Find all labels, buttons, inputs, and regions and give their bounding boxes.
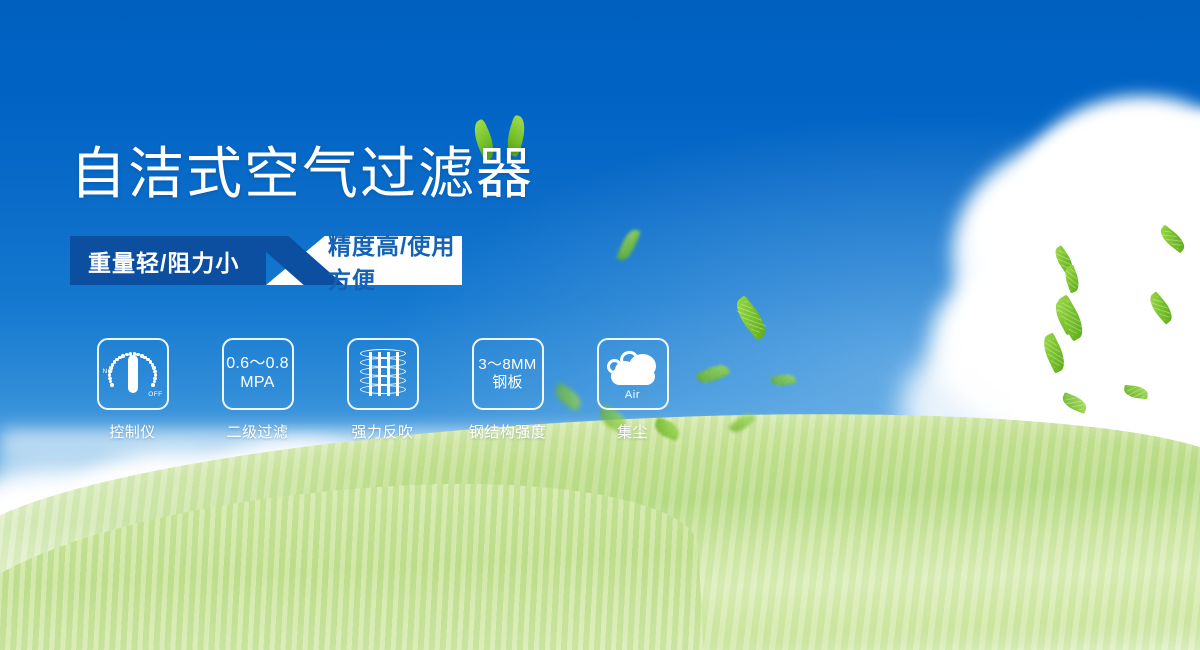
feature-label: 钢结构强度	[469, 421, 547, 442]
dial-tick-dot	[110, 383, 114, 387]
dial-tick-dot	[108, 377, 112, 381]
steel-thickness-text: 3～8MM	[478, 356, 536, 374]
feature-item-secondary-filter[interactable]: 0.6～0.8 MPA 二级过滤	[195, 338, 320, 442]
subtitle-dark-panel: 重量轻/阻力小	[70, 236, 266, 285]
feature-label: 集尘	[617, 421, 648, 442]
dial-gauge-icon: NO OFF	[104, 348, 162, 400]
pressure-unit-text: MPA	[240, 374, 274, 393]
dial-tick-dot	[108, 370, 112, 374]
cloud-air-icon	[607, 347, 659, 387]
dial-tick-dot	[151, 383, 155, 387]
feature-item-dust-collection[interactable]: Air 集尘	[570, 338, 695, 442]
feature-item-controller[interactable]: NO OFF 控制仪	[70, 338, 195, 442]
feature-list: NO OFF 控制仪 0.6～0.8 MPA 二级过滤	[70, 338, 695, 442]
dial-off-label: OFF	[148, 391, 162, 398]
feature-label: 控制仪	[109, 421, 156, 442]
feature-label: 强力反吹	[351, 421, 413, 442]
dial-tick-dot	[108, 373, 112, 377]
steel-plate-text: 钢板	[492, 374, 523, 392]
dial-tick-dot	[109, 366, 113, 370]
coil-bar	[369, 352, 372, 396]
dial-needle	[128, 355, 138, 393]
product-banner: 自洁式空气过滤器 重量轻/阻力小 精度高/使用方便 NO OFF 控制仪 0.6…	[0, 0, 1200, 650]
coil-bar	[396, 352, 399, 396]
feature-icon-box: NO OFF	[97, 338, 169, 410]
cloud-base	[611, 368, 655, 385]
coil-bar	[387, 352, 390, 396]
coil-bar	[378, 352, 381, 396]
feature-icon-box: Air	[597, 338, 669, 410]
feature-item-backblow[interactable]: 强力反吹	[320, 338, 445, 442]
subtitle-bar: 重量轻/阻力小 精度高/使用方便	[70, 236, 462, 285]
feature-icon-box: 0.6～0.8 MPA	[222, 338, 294, 410]
feature-icon-box	[347, 338, 419, 410]
subtitle-light-text: 精度高/使用方便	[328, 236, 462, 285]
pressure-value-text: 0.6～0.8	[226, 355, 289, 374]
feature-label: 二级过滤	[226, 421, 288, 442]
feature-icon-box: 3～8MM 钢板	[472, 338, 544, 410]
page-title: 自洁式空气过滤器	[70, 146, 534, 202]
feature-item-steel-strength[interactable]: 3～8MM 钢板 钢结构强度	[445, 338, 570, 442]
air-label: Air	[625, 389, 640, 401]
filter-coil-icon	[360, 349, 406, 399]
